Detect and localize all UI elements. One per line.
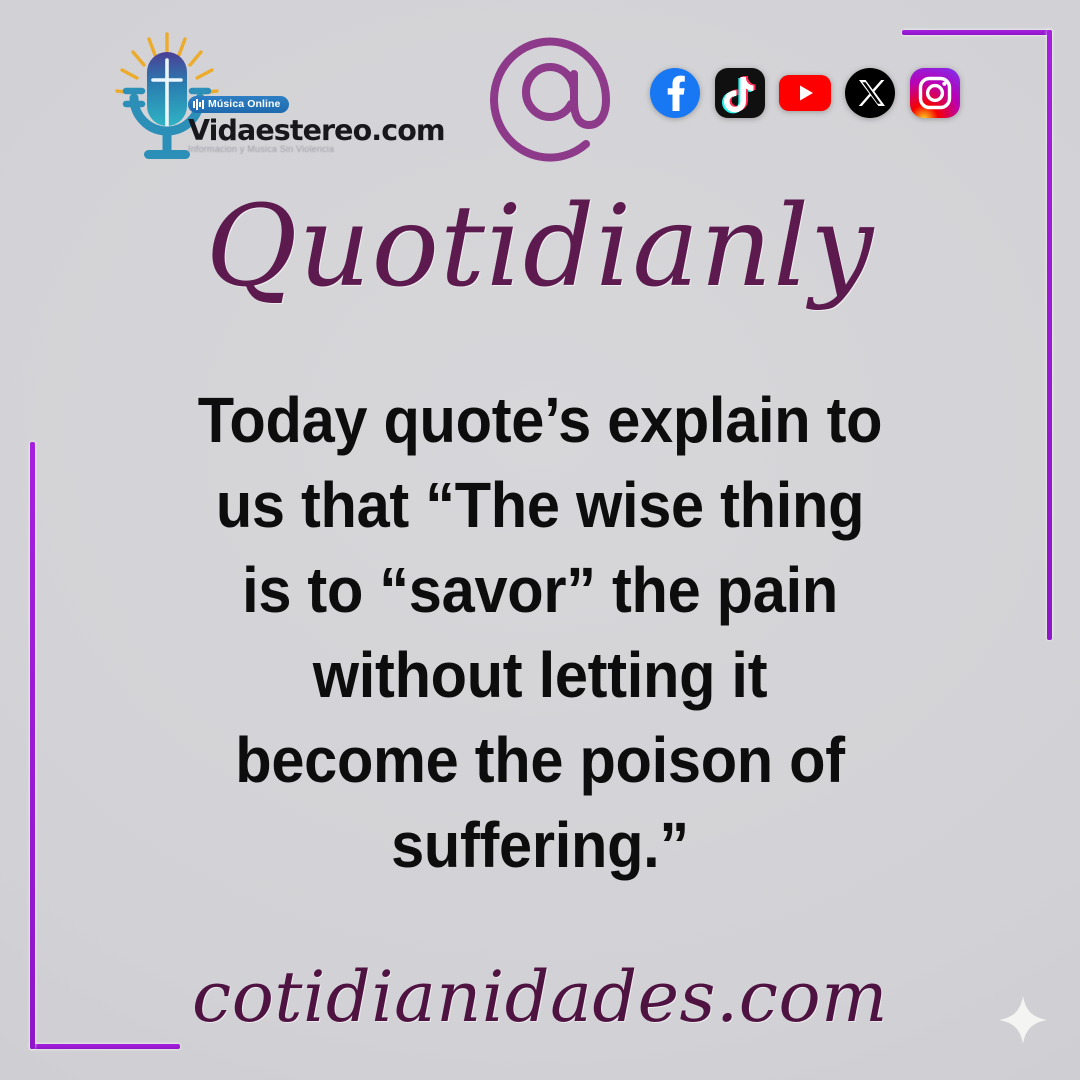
musica-online-badge: Música Online: [188, 96, 289, 113]
facebook-icon[interactable]: [648, 66, 702, 120]
bracket-horizontal-bar: [30, 1044, 180, 1049]
quote-line: is to “savor” the pain: [122, 548, 959, 633]
sparkle-star-icon: [995, 992, 1051, 1048]
page-title: Quotidianly: [0, 183, 1080, 313]
musica-online-badge-label: Música Online: [208, 98, 280, 110]
header-bar: Música Online Vidaestereo.com Informacio…: [0, 0, 1080, 180]
radio-brand-tagline: Informacion y Musica Sin Violencia: [188, 144, 384, 154]
at-sign-icon: [482, 22, 622, 172]
quote-text: Today quote’s explain to us that “The wi…: [122, 378, 959, 888]
quote-line: suffering.”: [122, 803, 959, 888]
youtube-icon[interactable]: [778, 66, 832, 120]
quote-line: become the poison of: [122, 718, 959, 803]
instagram-icon[interactable]: [908, 66, 962, 120]
tiktok-icon[interactable]: [713, 66, 767, 120]
quote-graphic-canvas: Música Online Vidaestereo.com Informacio…: [0, 0, 1080, 1080]
x-twitter-icon[interactable]: [843, 66, 897, 120]
bracket-vertical-bar: [30, 442, 35, 1049]
quote-line: Today quote’s explain to: [122, 378, 959, 463]
radio-brand-block: Música Online Vidaestereo.com Informacio…: [188, 96, 384, 154]
social-icons-row: [648, 66, 962, 120]
radio-brand-name: Vidaestereo.com: [188, 116, 384, 146]
quote-line: without letting it: [122, 633, 959, 718]
quote-line: us that “The wise thing: [122, 463, 959, 548]
radio-station-logo[interactable]: Música Online Vidaestereo.com Informacio…: [96, 28, 386, 168]
website-url[interactable]: cotidianidades.com: [0, 962, 1080, 1032]
equalizer-icon: [193, 99, 205, 110]
